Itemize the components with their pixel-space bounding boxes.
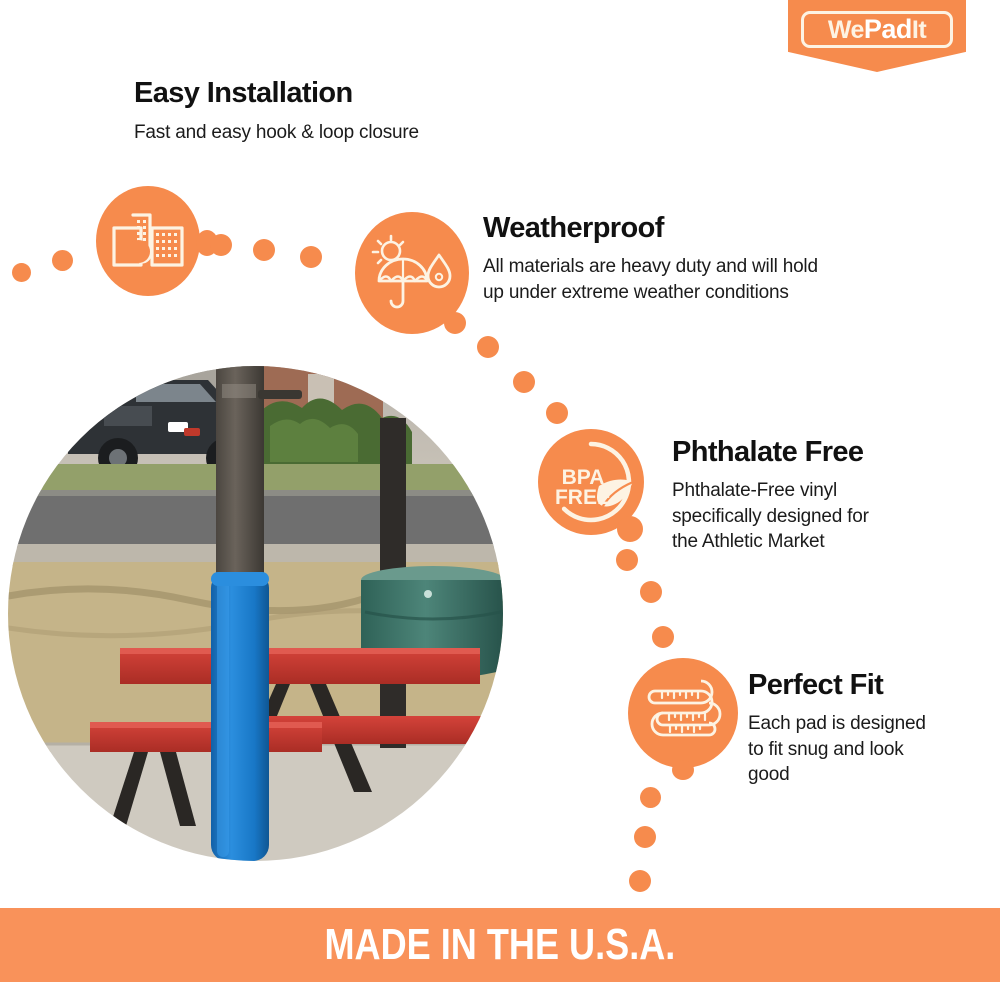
hook-and-loop-pad-icon: [96, 186, 200, 296]
measuring-tape-icon: [628, 658, 738, 768]
feature-desc-perfect-line1: Each pad is designed: [748, 713, 926, 734]
feature-desc-weatherproof-line1: All materials are heavy duty and will ho…: [483, 256, 818, 277]
brand-logo[interactable]: WePadIt: [788, 0, 966, 72]
feature-title-phthalate-free: Phthalate Free: [672, 437, 972, 469]
trail-dot: [127, 240, 150, 263]
logo-wordmark: WePadIt: [828, 16, 926, 43]
trail-dot: [12, 263, 31, 282]
trail-dot: [652, 626, 674, 648]
feature-block-perfect-fit: Perfect Fit Each pad is designedto fit s…: [748, 670, 980, 788]
trail-dot: [640, 787, 661, 808]
icon-blob-weather-bottomright: [444, 312, 466, 334]
bpa-label-line2: FREE: [555, 486, 611, 509]
trail-dot: [477, 336, 499, 358]
logo-word-we: We: [828, 16, 864, 44]
feature-desc-phthalate-free: Phthalate-Free vinylspecifically designe…: [672, 478, 972, 555]
trail-dot: [629, 870, 651, 892]
feature-title-easy-installation: Easy Installation: [134, 78, 574, 110]
feature-desc-weatherproof-line2: up under extreme weather conditions: [483, 282, 789, 303]
feature-title-weatherproof: Weatherproof: [483, 213, 913, 245]
feature-desc-phthalate-line3: the Athletic Market: [672, 531, 825, 552]
trail-dot: [513, 371, 535, 393]
feature-desc-phthalate-line1: Phthalate-Free vinyl: [672, 480, 837, 501]
trail-dot: [634, 826, 656, 848]
trail-dot: [616, 549, 638, 571]
trail-dot: [640, 581, 662, 603]
trail-dot: [300, 246, 322, 268]
infographic-page: WePadIt Easy Installation Fast and easy …: [0, 0, 1000, 987]
feature-block-weatherproof: Weatherproof All materials are heavy dut…: [483, 213, 913, 305]
icon-blob-fit-bottom: [672, 760, 694, 780]
feature-title-perfect-fit: Perfect Fit: [748, 670, 980, 702]
feature-desc-perfect-line2: to fit snug and look: [748, 739, 904, 760]
trail-dot: [253, 239, 275, 261]
trail-dot: [546, 402, 568, 424]
feature-desc-phthalate-line2: specifically designed for: [672, 506, 869, 527]
made-in-usa-banner: MADE IN THE U.S.A.: [0, 908, 1000, 982]
feature-desc-perfect-line3: good: [748, 764, 789, 785]
feature-desc-perfect-fit: Each pad is designedto fit snug and look…: [748, 711, 980, 788]
feature-desc-easy-installation: Fast and easy hook & loop closure: [134, 120, 574, 146]
icon-blob-bpa-bottomright: [617, 516, 643, 542]
product-photo-pole-pad: [8, 366, 503, 861]
feature-block-easy-installation: Easy Installation Fast and easy hook & l…: [134, 78, 574, 146]
trail-dot: [210, 234, 232, 256]
trail-dot: [52, 250, 73, 271]
made-in-usa-text: MADE IN THE U.S.A.: [325, 920, 676, 970]
logo-word-it: It: [912, 16, 926, 44]
logo-inner-border: WePadIt: [801, 11, 953, 48]
feature-desc-weatherproof: All materials are heavy duty and will ho…: [483, 254, 913, 305]
feature-block-phthalate-free: Phthalate Free Phthalate-Free vinylspeci…: [672, 437, 972, 555]
logo-word-pad: Pad: [864, 14, 912, 44]
